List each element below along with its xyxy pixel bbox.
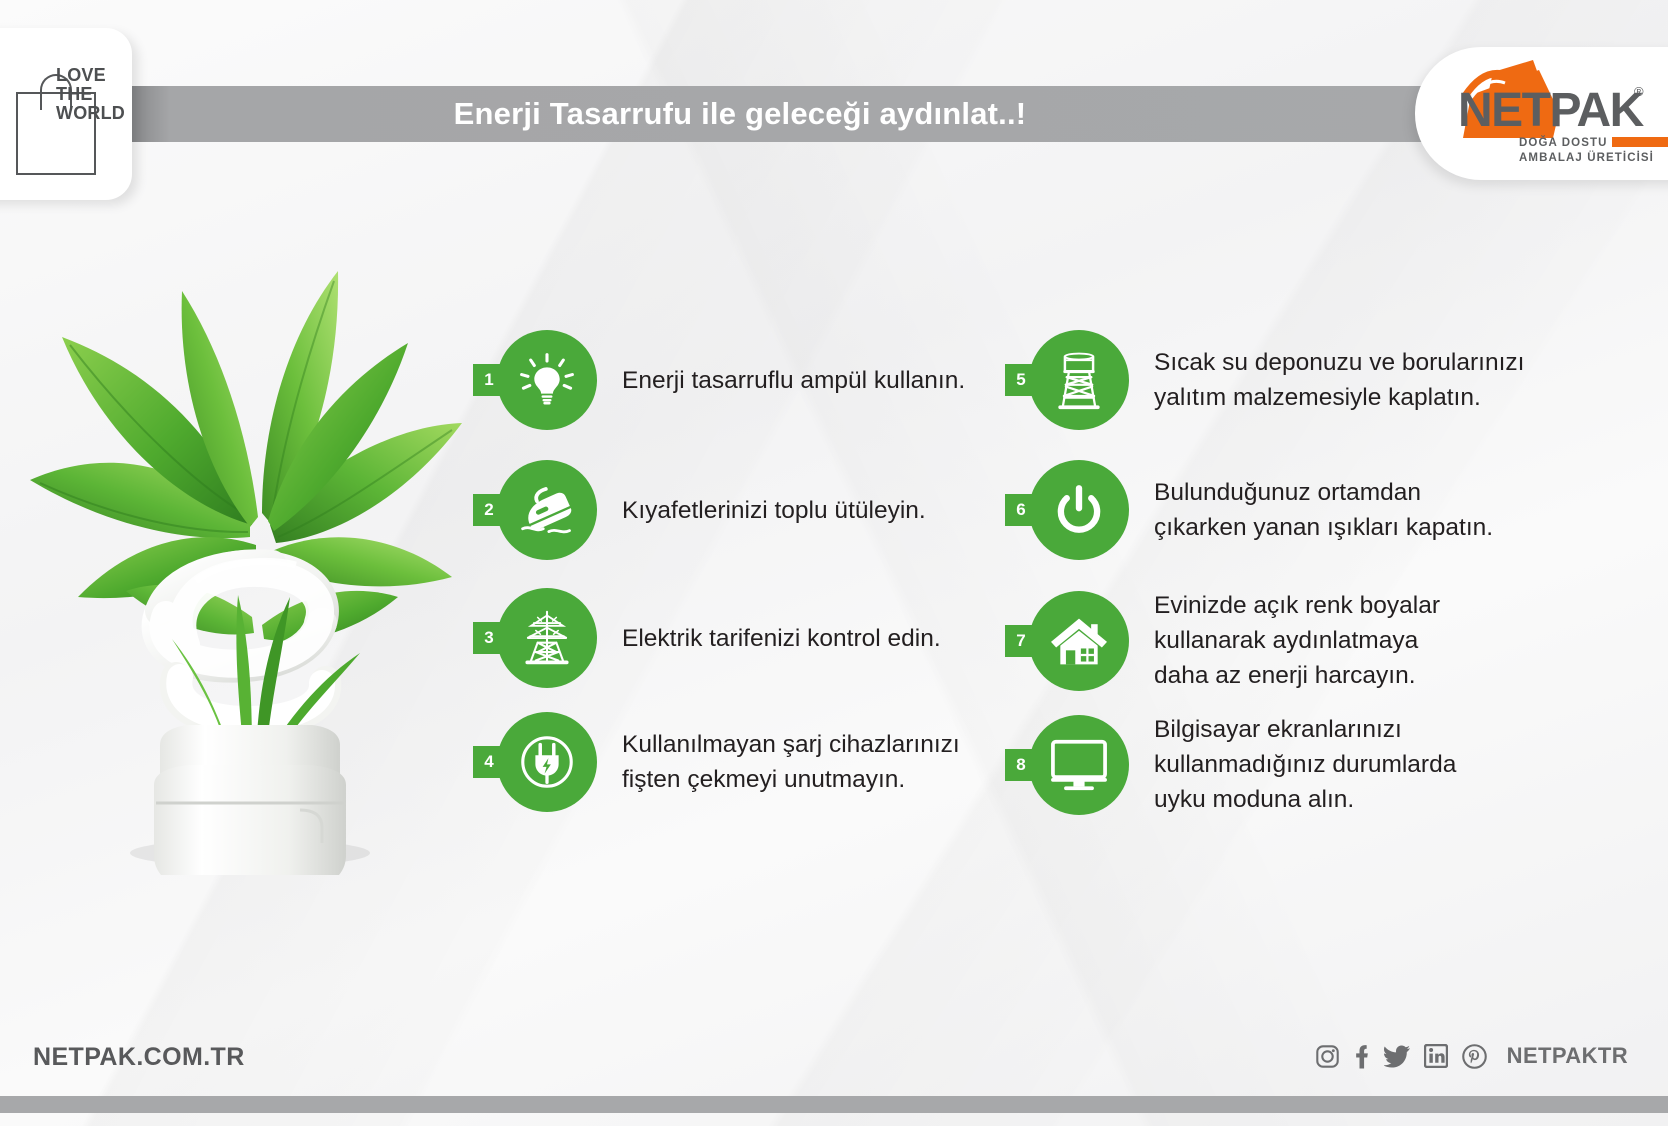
- tip-item-6[interactable]: 6 Bulunduğunuz ortamdan çıkarken yanan ı…: [1005, 460, 1493, 560]
- computer-monitor-icon: [1029, 715, 1129, 815]
- tip-item-3[interactable]: 3 Elektrik tarifenizi kontrol edin.: [473, 588, 941, 688]
- power-button-icon: [1029, 460, 1129, 560]
- page-title: Enerji Tasarrufu ile geleceği aydınlat..…: [150, 86, 1330, 142]
- lightbulb-icon: [497, 330, 597, 430]
- tip-item-8[interactable]: 8 Bilgisayar ekranlarınızı kullanmadığın…: [1005, 712, 1456, 817]
- footer-social-handle: NETPAKTR: [1507, 1043, 1628, 1069]
- facebook-icon[interactable]: [1354, 1044, 1370, 1069]
- tip-text: Bulunduğunuz ortamdan çıkarken yanan ışı…: [1154, 475, 1493, 545]
- house-icon: [1029, 591, 1129, 691]
- footer-bar: [0, 1096, 1668, 1113]
- twitter-icon[interactable]: [1384, 1045, 1410, 1068]
- netpak-wordmark: NETPAK: [1458, 83, 1643, 138]
- netpak-tagline-bar: [1612, 137, 1668, 147]
- tip-text: Bilgisayar ekranlarınızı kullanmadığınız…: [1154, 712, 1456, 817]
- pinterest-icon[interactable]: [1462, 1044, 1487, 1069]
- tip-text: Evinizde açık renk boyalar kullanarak ay…: [1154, 588, 1440, 693]
- love-line-2: THE: [56, 85, 140, 104]
- love-line-1: LOVE: [56, 66, 140, 85]
- cfl-bulb-with-plant-illustration: [0, 225, 470, 875]
- footer-social-links: NETPAKTR: [1315, 1043, 1628, 1069]
- tip-item-5[interactable]: 5 Sıcak su deponuzu ve borularınızı yalı…: [1005, 330, 1524, 430]
- electricity-pylon-icon: [497, 588, 597, 688]
- footer-website-url[interactable]: NETPAK.COM.TR: [33, 1043, 245, 1072]
- netpak-registered-mark: ®: [1634, 84, 1644, 99]
- love-line-3: WORLD: [56, 104, 140, 123]
- tip-text: Kıyafetlerinizi toplu ütüleyin.: [622, 493, 926, 528]
- netpak-tagline-line-2: AMBALAJ ÜRETİCİSİ: [1519, 151, 1654, 166]
- water-tower-icon: [1029, 330, 1129, 430]
- tip-item-2[interactable]: 2 Kıyafetlerinizi toplu ütüleyin.: [473, 460, 926, 560]
- tip-text: Kullanılmayan şarj cihazlarınızı fişten …: [622, 727, 960, 797]
- tip-item-1[interactable]: 1 Enerji tasarruflu ampül kullanın.: [473, 330, 965, 430]
- linkedin-icon[interactable]: [1424, 1044, 1448, 1068]
- tip-text: Enerji tasarruflu ampül kullanın.: [622, 363, 965, 398]
- tip-item-7[interactable]: 7 Evinizde açık renk boyalar kullanarak …: [1005, 588, 1440, 693]
- love-the-world-text: LOVE THE WORLD: [56, 66, 140, 123]
- power-plug-icon: [497, 712, 597, 812]
- tip-item-4[interactable]: 4 Kullanılmayan şarj cihazlarınızı fişte…: [473, 712, 960, 812]
- instagram-icon[interactable]: [1315, 1044, 1340, 1069]
- tip-text: Elektrik tarifenizi kontrol edin.: [622, 621, 941, 656]
- tip-text: Sıcak su deponuzu ve borularınızı yalıtı…: [1154, 345, 1524, 415]
- clothes-iron-icon: [497, 460, 597, 560]
